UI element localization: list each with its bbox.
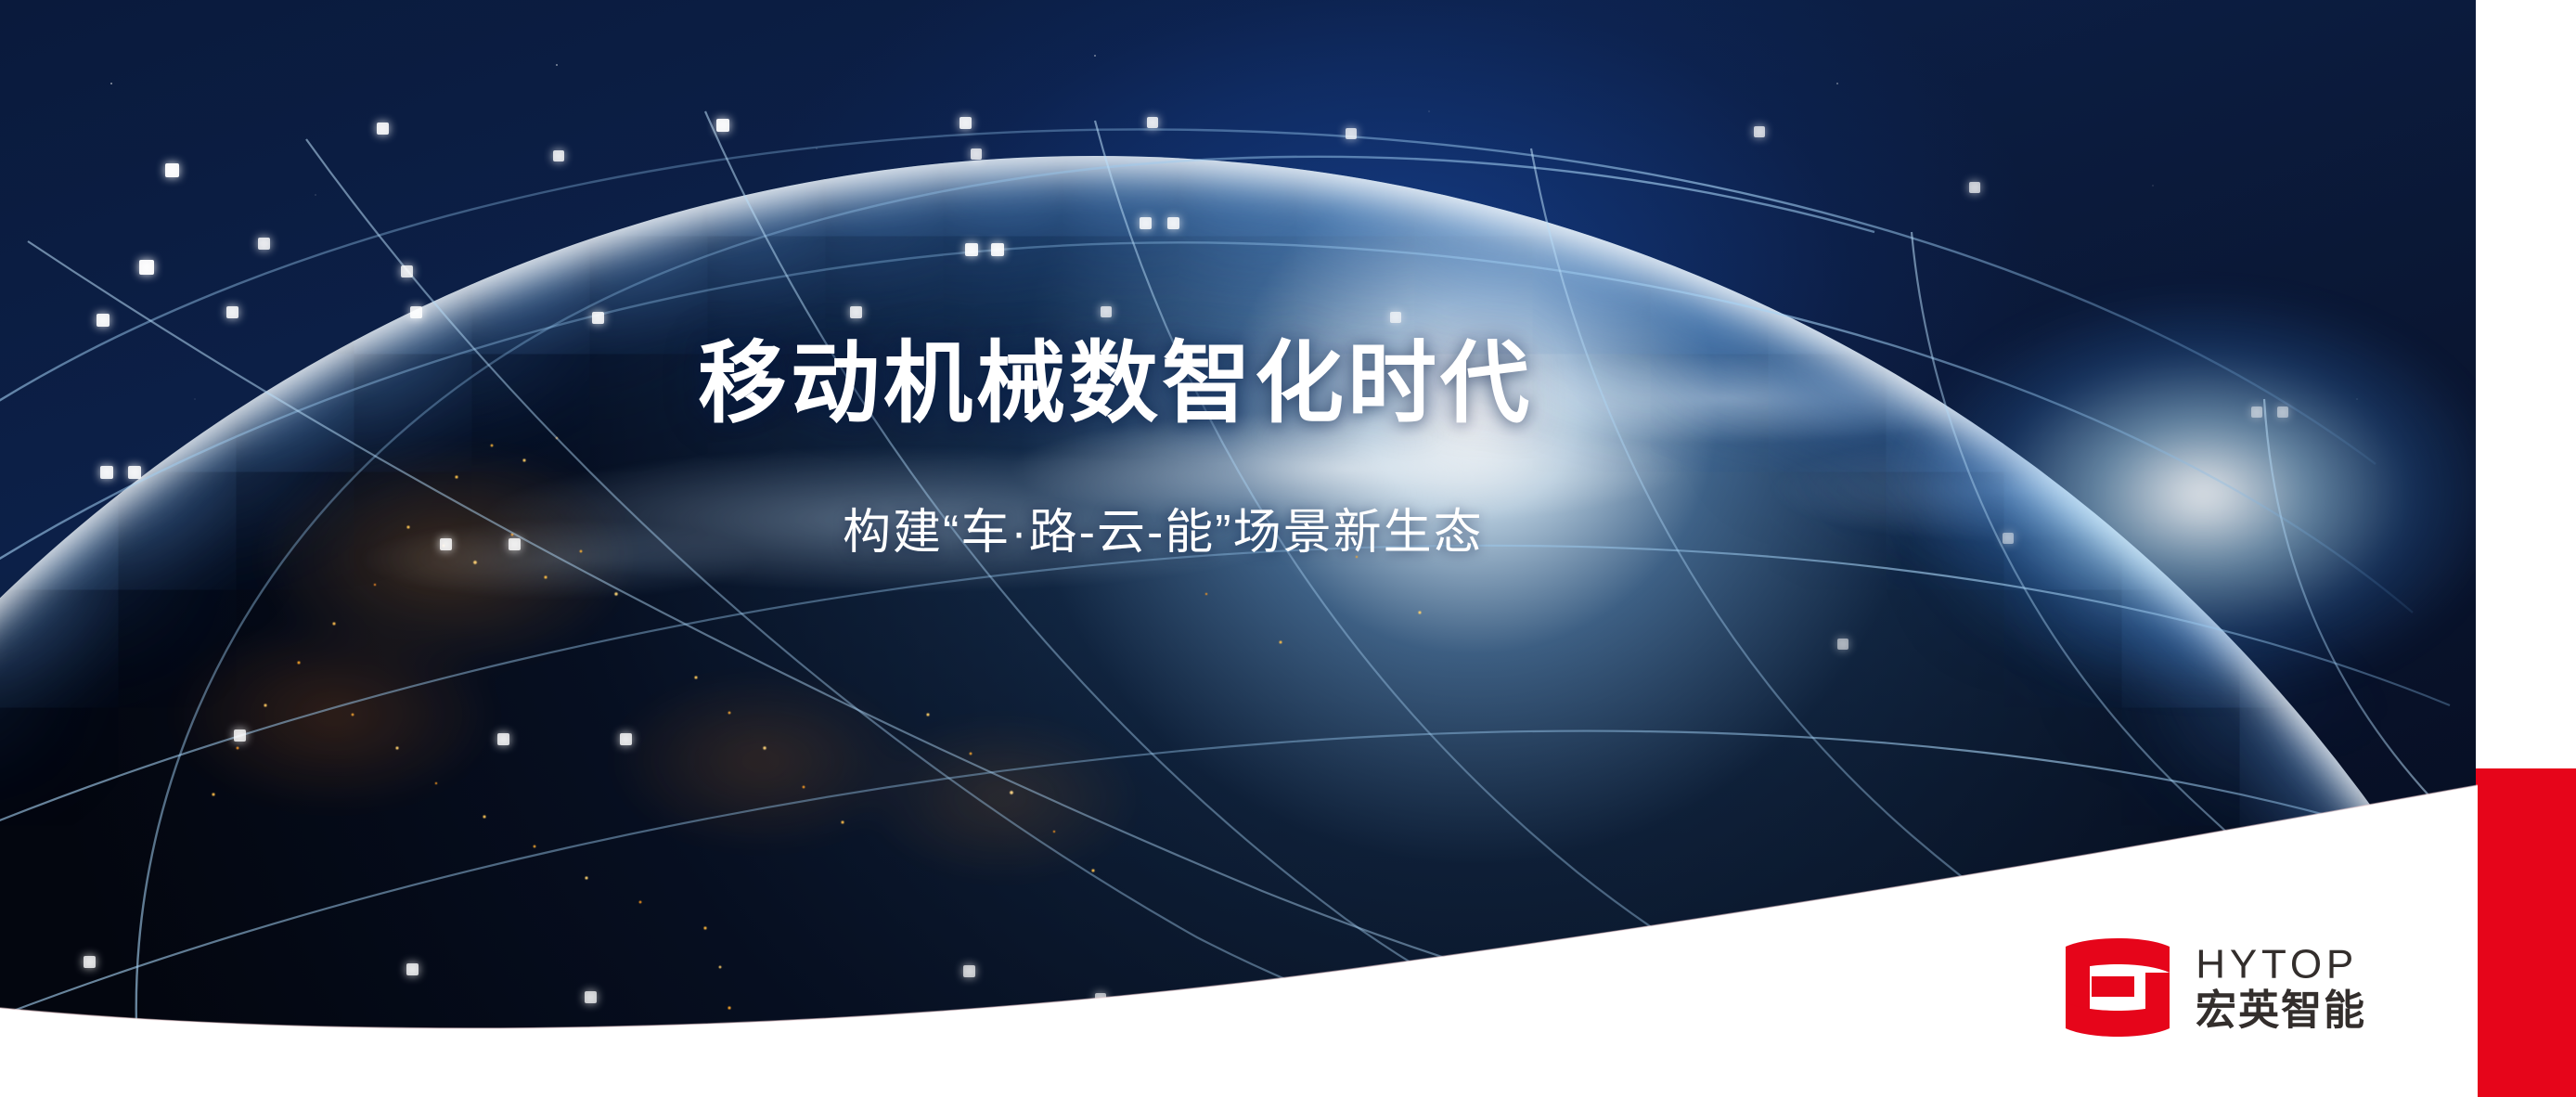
title-slide: 移动机械数智化时代 构建“车·路-云-能”场景新生态 HYTOP: [0, 0, 2576, 1097]
accent-bar-red: [2476, 768, 2576, 1097]
hytop-wordmark-cn-text: 宏英智能: [2196, 988, 2366, 1031]
hytop-wordmark-en: HYTOP: [2196, 944, 2463, 985]
slide-title: 移动机械数智化时代: [698, 340, 1533, 429]
right-margin: [2476, 0, 2576, 768]
hytop-wordmark-en-text: HYTOP: [2196, 944, 2358, 985]
hytop-wordmark-cn: 宏英智能: [2196, 988, 2463, 1031]
background-space-image: 移动机械数智化时代 构建“车·路-云-能”场景新生态: [0, 0, 2478, 1097]
slide-subtitle: 构建“车·路-云-能”场景新生态: [843, 509, 1484, 557]
brand-logo: HYTOP 宏英智能: [2064, 936, 2463, 1039]
hytop-logo-mark: [2064, 936, 2171, 1039]
brand-wordmark-group: HYTOP 宏英智能: [2196, 944, 2463, 1031]
